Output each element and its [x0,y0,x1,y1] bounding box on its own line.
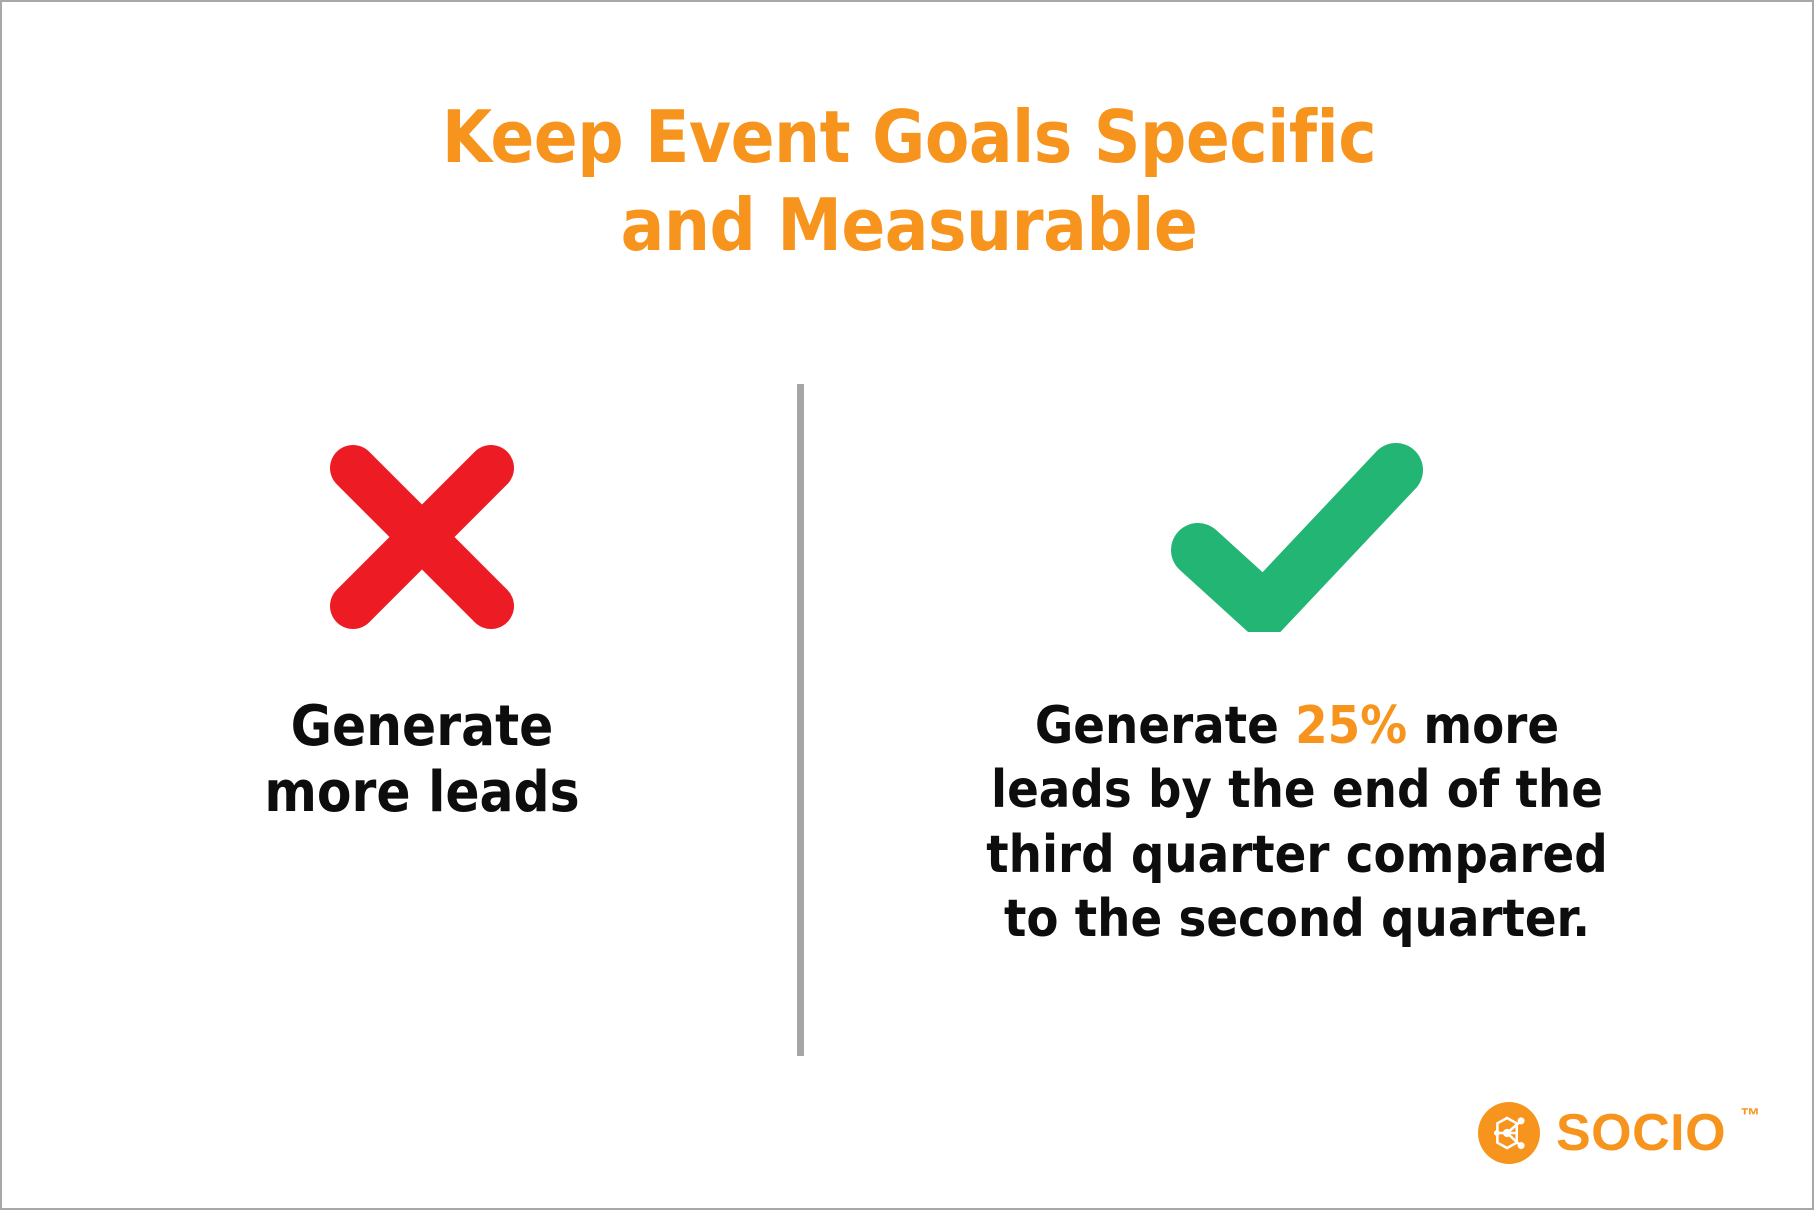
good-statement-line-2: leads by the end of the [832,758,1762,822]
good-example-statement: Generate 25% more leads by the end of th… [832,694,1762,952]
socio-logo-mark-icon [1478,1102,1540,1164]
good-line1-post: more [1407,696,1559,756]
good-statement-line-3: third quarter compared [832,823,1762,887]
trademark-symbol: ™ [1740,1106,1760,1126]
check-icon [1168,442,1426,632]
good-line1-pre: Generate [1035,696,1295,756]
socio-logo: SOCIO ™ [1478,1102,1760,1164]
title-line-2: and Measurable [2,182,1814,270]
column-good-example: Generate 25% more leads by the end of th… [832,382,1762,952]
bad-example-caption: Generate more leads [62,694,782,826]
socio-wordmark: SOCIO [1556,1107,1726,1159]
column-bad-example: Generate more leads [62,382,782,826]
cross-icon-wrap [62,382,782,632]
vertical-divider [797,384,804,1056]
page-title: Keep Event Goals Specific and Measurable [2,94,1814,270]
metric-highlight: 25% [1295,696,1407,756]
good-statement-line-4: to the second quarter. [832,887,1762,951]
bad-caption-line-2: more leads [62,760,782,826]
title-line-1: Keep Event Goals Specific [2,94,1814,182]
infographic-canvas: Keep Event Goals Specific and Measurable… [0,0,1814,1210]
cross-icon [327,442,517,632]
good-statement-line-1: Generate 25% more [832,694,1762,758]
check-icon-wrap [832,382,1762,632]
bad-caption-line-1: Generate [62,694,782,760]
